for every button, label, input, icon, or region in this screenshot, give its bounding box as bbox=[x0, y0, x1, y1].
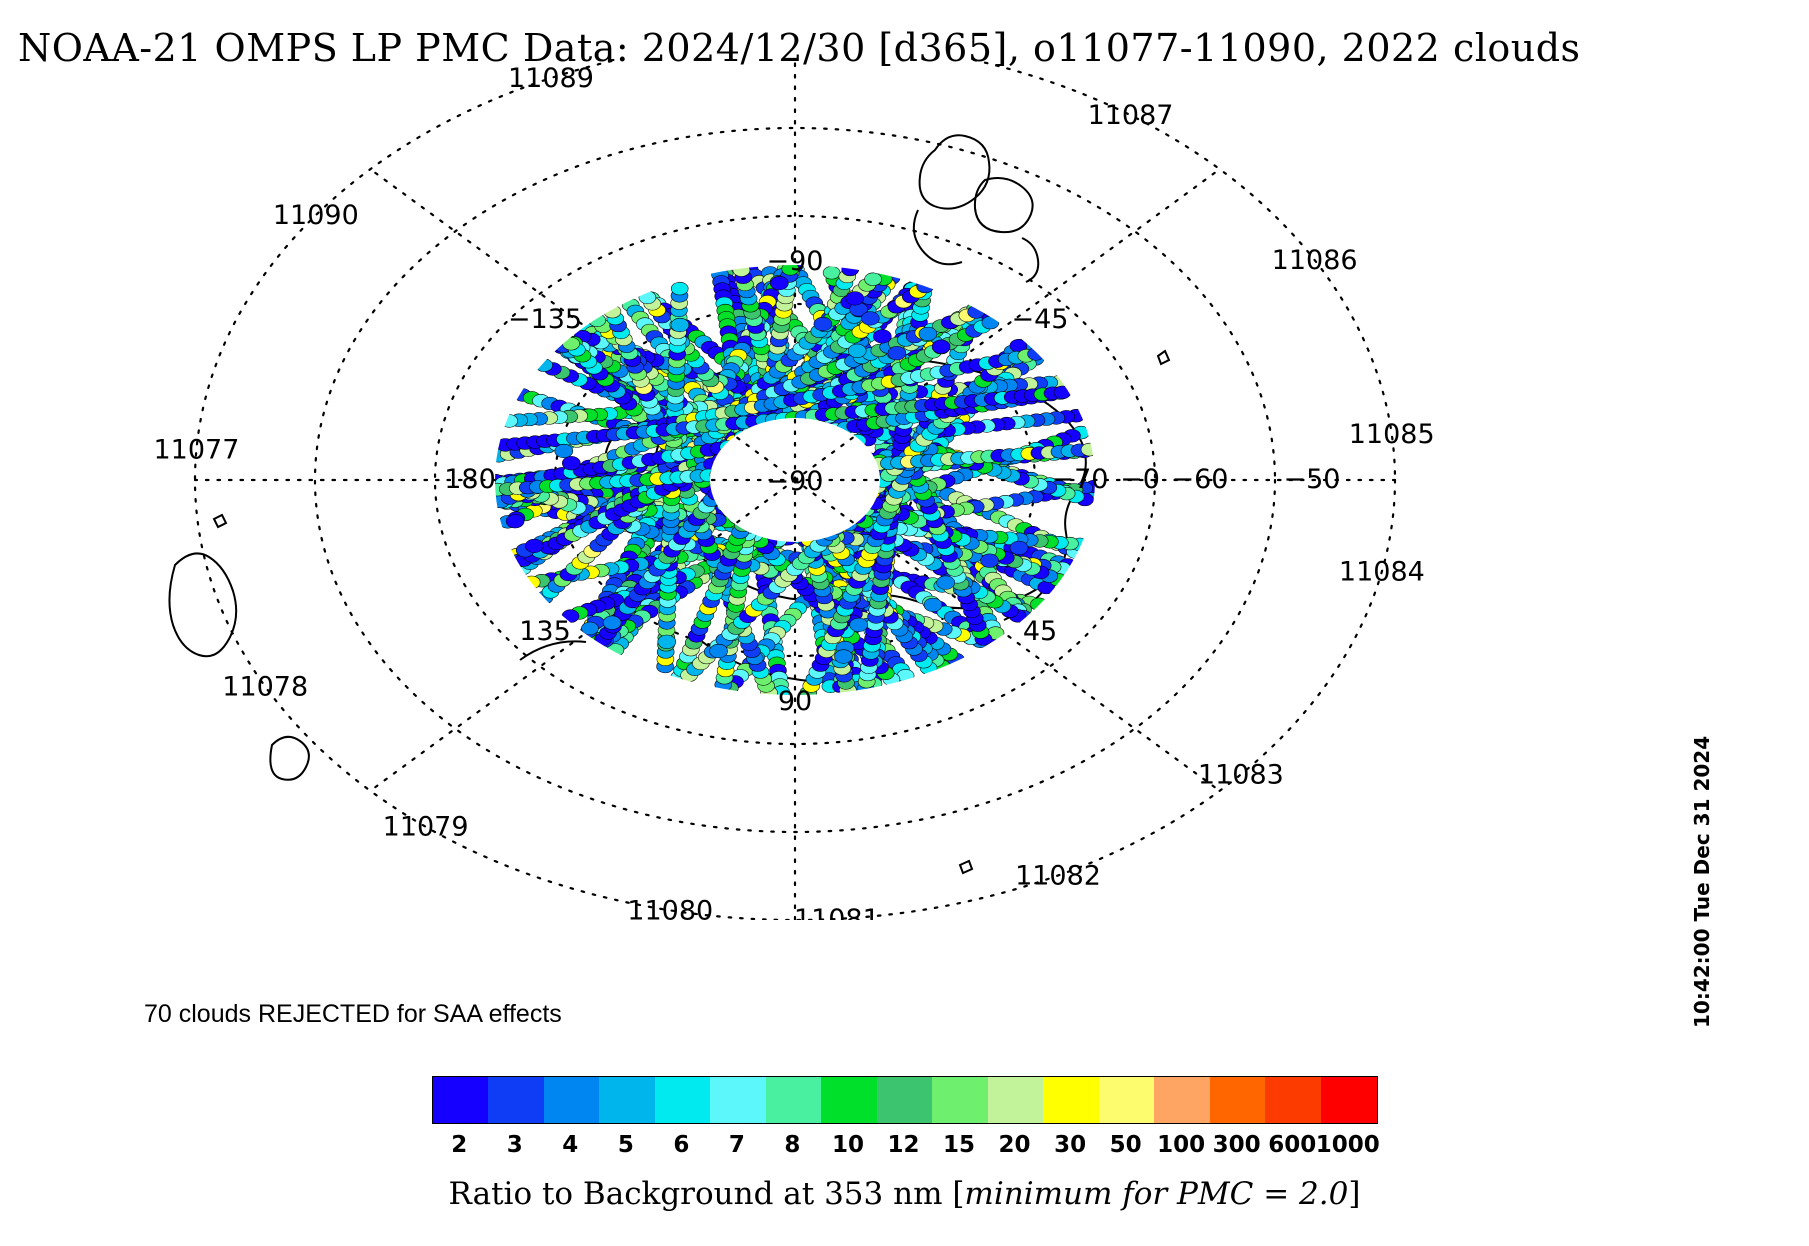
colorbar-swatch bbox=[1099, 1077, 1155, 1123]
colorbar-tick-label: 12 bbox=[887, 1132, 919, 1158]
colorbar-tick-label: 6 bbox=[673, 1132, 689, 1158]
colorbar-tick-label: 2 bbox=[451, 1132, 467, 1158]
render-timestamp: 10:42:00 Tue Dec 31 2024 bbox=[1690, 736, 1714, 1028]
colorbar-tick-label: 30 bbox=[1054, 1132, 1086, 1158]
lon-label-135: 135 bbox=[519, 616, 571, 647]
colorbar-tick-label: 20 bbox=[999, 1132, 1031, 1158]
lon-label-0: −0 bbox=[1120, 464, 1160, 495]
isolated-cloud-point bbox=[1010, 541, 1028, 555]
orbit-label: 11077 bbox=[154, 434, 240, 465]
colorbar-tick-label: 3 bbox=[507, 1132, 523, 1158]
lat-label-minus50: −50 bbox=[1284, 464, 1341, 495]
lon-label-180: 180 bbox=[444, 464, 496, 495]
rejected-clouds-note: 70 clouds REJECTED for SAA effects bbox=[144, 1000, 562, 1029]
colorbar-tick-label: 10 bbox=[832, 1132, 864, 1158]
colorbar-swatch bbox=[710, 1077, 766, 1123]
colorbar-tick-label: 5 bbox=[618, 1132, 634, 1158]
caption-plain-text: Ratio to Background at 353 nm [ bbox=[449, 1176, 965, 1212]
caption-italic-text: minimum for PMC = 2.0 bbox=[964, 1176, 1348, 1212]
isolated-cloud-point bbox=[919, 327, 937, 341]
colorbar-swatch bbox=[433, 1077, 489, 1123]
colorbar-tick-label: 100 bbox=[1157, 1132, 1205, 1158]
colorbar-swatch bbox=[932, 1077, 988, 1123]
colorbar-swatch bbox=[766, 1077, 822, 1123]
colorbar-swatch bbox=[988, 1077, 1044, 1123]
isolated-cloud-point bbox=[671, 318, 689, 332]
isolated-cloud-point bbox=[861, 312, 879, 326]
orbit-label: 11090 bbox=[273, 200, 359, 231]
colorbar-tick-label: 4 bbox=[562, 1132, 578, 1158]
colorbar-swatch bbox=[1265, 1077, 1321, 1123]
isolated-cloud-point bbox=[555, 444, 573, 458]
isolated-cloud-point bbox=[525, 539, 543, 553]
colorbar-ticks: 23456781012152030501003006001000 bbox=[432, 1132, 1378, 1166]
isolated-cloud-point bbox=[937, 576, 955, 590]
polar-map-plot: −90 −135 −45 135 45 90 180 −90 −70 −0 −6… bbox=[0, 60, 1620, 920]
colorbar-swatch bbox=[1154, 1077, 1210, 1123]
isolated-cloud-point bbox=[888, 346, 906, 360]
colorbar-swatch bbox=[877, 1077, 933, 1123]
orbit-label: 11080 bbox=[627, 895, 713, 920]
colorbar-tick-label: 15 bbox=[943, 1132, 975, 1158]
colorbar-tick-label: 1000 bbox=[1316, 1132, 1380, 1158]
lon-label-minus90: −90 bbox=[767, 246, 824, 277]
lon-label-45: 45 bbox=[1023, 616, 1057, 647]
isolated-cloud-point bbox=[981, 554, 999, 568]
orbit-label: 11081 bbox=[794, 904, 880, 920]
colorbar-swatch bbox=[1043, 1077, 1099, 1123]
lon-label-minus135: −135 bbox=[508, 304, 582, 335]
isolated-cloud-point bbox=[848, 344, 866, 358]
isolated-cloud-point bbox=[835, 650, 853, 664]
colorbar bbox=[432, 1076, 1378, 1124]
lon-label-minus45: −45 bbox=[1012, 304, 1069, 335]
orbit-label: 11079 bbox=[383, 812, 469, 843]
lat-label-minus60: −60 bbox=[1172, 464, 1229, 495]
colorbar-swatch bbox=[544, 1077, 600, 1123]
colorbar-section: 23456781012152030501003006001000 Ratio t… bbox=[0, 1076, 1809, 1212]
isolated-cloud-point bbox=[846, 292, 864, 306]
orbit-label: 11078 bbox=[222, 672, 308, 703]
isolated-cloud-point bbox=[603, 616, 621, 630]
isolated-cloud-point bbox=[562, 456, 580, 470]
colorbar-tick-label: 600 bbox=[1268, 1132, 1316, 1158]
orbit-label: 11086 bbox=[1272, 245, 1358, 276]
isolated-cloud-point bbox=[658, 635, 676, 649]
isolated-cloud-point bbox=[850, 618, 868, 632]
orbit-label: 11083 bbox=[1198, 759, 1284, 790]
colorbar-tick-label: 50 bbox=[1110, 1132, 1142, 1158]
lon-label-90: 90 bbox=[778, 686, 812, 717]
colorbar-tick-label: 300 bbox=[1213, 1132, 1261, 1158]
colorbar-swatch bbox=[1321, 1077, 1377, 1123]
orbit-label: 11084 bbox=[1339, 556, 1425, 587]
orbit-label: 11089 bbox=[508, 63, 594, 94]
colorbar-swatch bbox=[488, 1077, 544, 1123]
colorbar-caption: Ratio to Background at 353 nm [minimum f… bbox=[0, 1176, 1809, 1212]
isolated-cloud-point bbox=[770, 276, 788, 290]
colorbar-swatch bbox=[1210, 1077, 1266, 1123]
colorbar-tick-label: 8 bbox=[784, 1132, 800, 1158]
orbit-label: 11085 bbox=[1349, 419, 1435, 450]
isolated-cloud-point bbox=[873, 330, 891, 344]
colorbar-swatch bbox=[599, 1077, 655, 1123]
colorbar-swatch bbox=[655, 1077, 711, 1123]
isolated-cloud-point bbox=[932, 340, 950, 354]
colorbar-swatch bbox=[821, 1077, 877, 1123]
lat-label-minus70: −70 bbox=[1052, 464, 1109, 495]
isolated-cloud-point bbox=[924, 598, 942, 612]
orbit-label: 11082 bbox=[1015, 860, 1101, 891]
caption-close-bracket: ] bbox=[1348, 1176, 1360, 1212]
colorbar-tick-label: 7 bbox=[729, 1132, 745, 1158]
center-lat-label: −90 bbox=[767, 466, 824, 497]
orbit-label: 11087 bbox=[1088, 100, 1174, 131]
isolated-cloud-point bbox=[710, 644, 728, 658]
isolated-cloud-point bbox=[506, 514, 524, 528]
isolated-cloud-point bbox=[814, 317, 832, 331]
